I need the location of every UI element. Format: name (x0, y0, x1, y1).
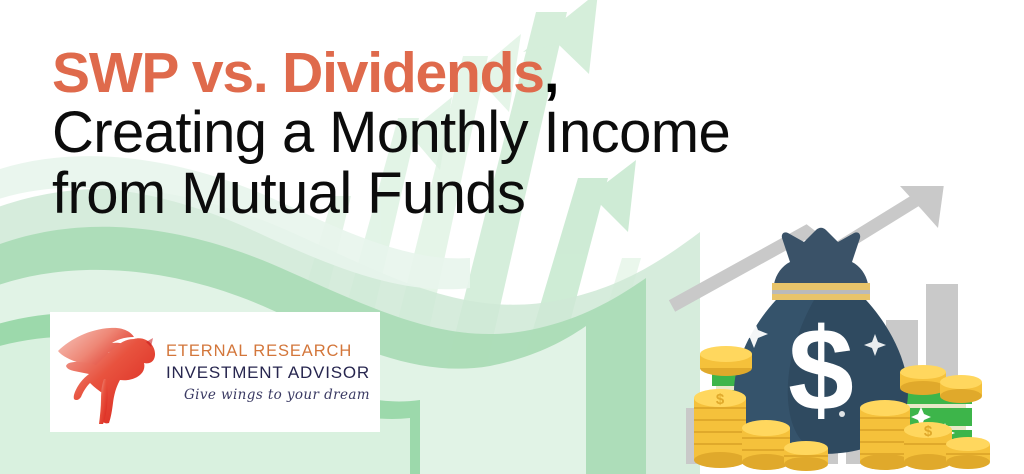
money-bag-growth-illustration: $ (664, 186, 1024, 474)
sparkle-icon (839, 411, 845, 417)
brand-line-eternal-research: ETERNAL RESEARCH (166, 341, 370, 362)
headline-block: SWP vs. Dividends, Creating a Monthly In… (52, 46, 730, 222)
brand-logo[interactable]: ETERNAL RESEARCH INVESTMENT ADVISOR Give… (50, 312, 380, 432)
brand-line-investment-advisor: INVESTMENT ADVISOR (166, 362, 370, 383)
brand-tagline: Give wings to your dream (184, 387, 370, 403)
coin-stack (900, 365, 946, 395)
promo-banner: SWP vs. Dividends, Creating a Monthly In… (0, 0, 1024, 474)
sparkle-icon (724, 332, 740, 348)
headline-accent-text: SWP vs. Dividends (52, 41, 544, 105)
headline-comma: , (544, 41, 559, 105)
coin-stack (784, 441, 828, 471)
headline-line-1: SWP vs. Dividends, (52, 46, 730, 101)
svg-text:$: $ (924, 423, 933, 440)
headline-line-3: from Mutual Funds (52, 166, 730, 222)
brand-logo-text: ETERNAL RESEARCH INVESTMENT ADVISOR Give… (166, 341, 370, 403)
coin-stack (946, 437, 990, 469)
pegasus-winged-horse-icon (56, 317, 160, 427)
headline-line-2: Creating a Monthly Income (52, 105, 730, 161)
green-arrow-icon (556, 258, 641, 474)
coin-stack: $ (694, 389, 746, 468)
svg-text:$: $ (716, 391, 725, 408)
coin-stack (700, 346, 752, 376)
coin-stack: $ (904, 422, 952, 470)
coin-stack (940, 375, 982, 403)
coin-stack (742, 420, 790, 470)
coin-stack (860, 400, 910, 470)
